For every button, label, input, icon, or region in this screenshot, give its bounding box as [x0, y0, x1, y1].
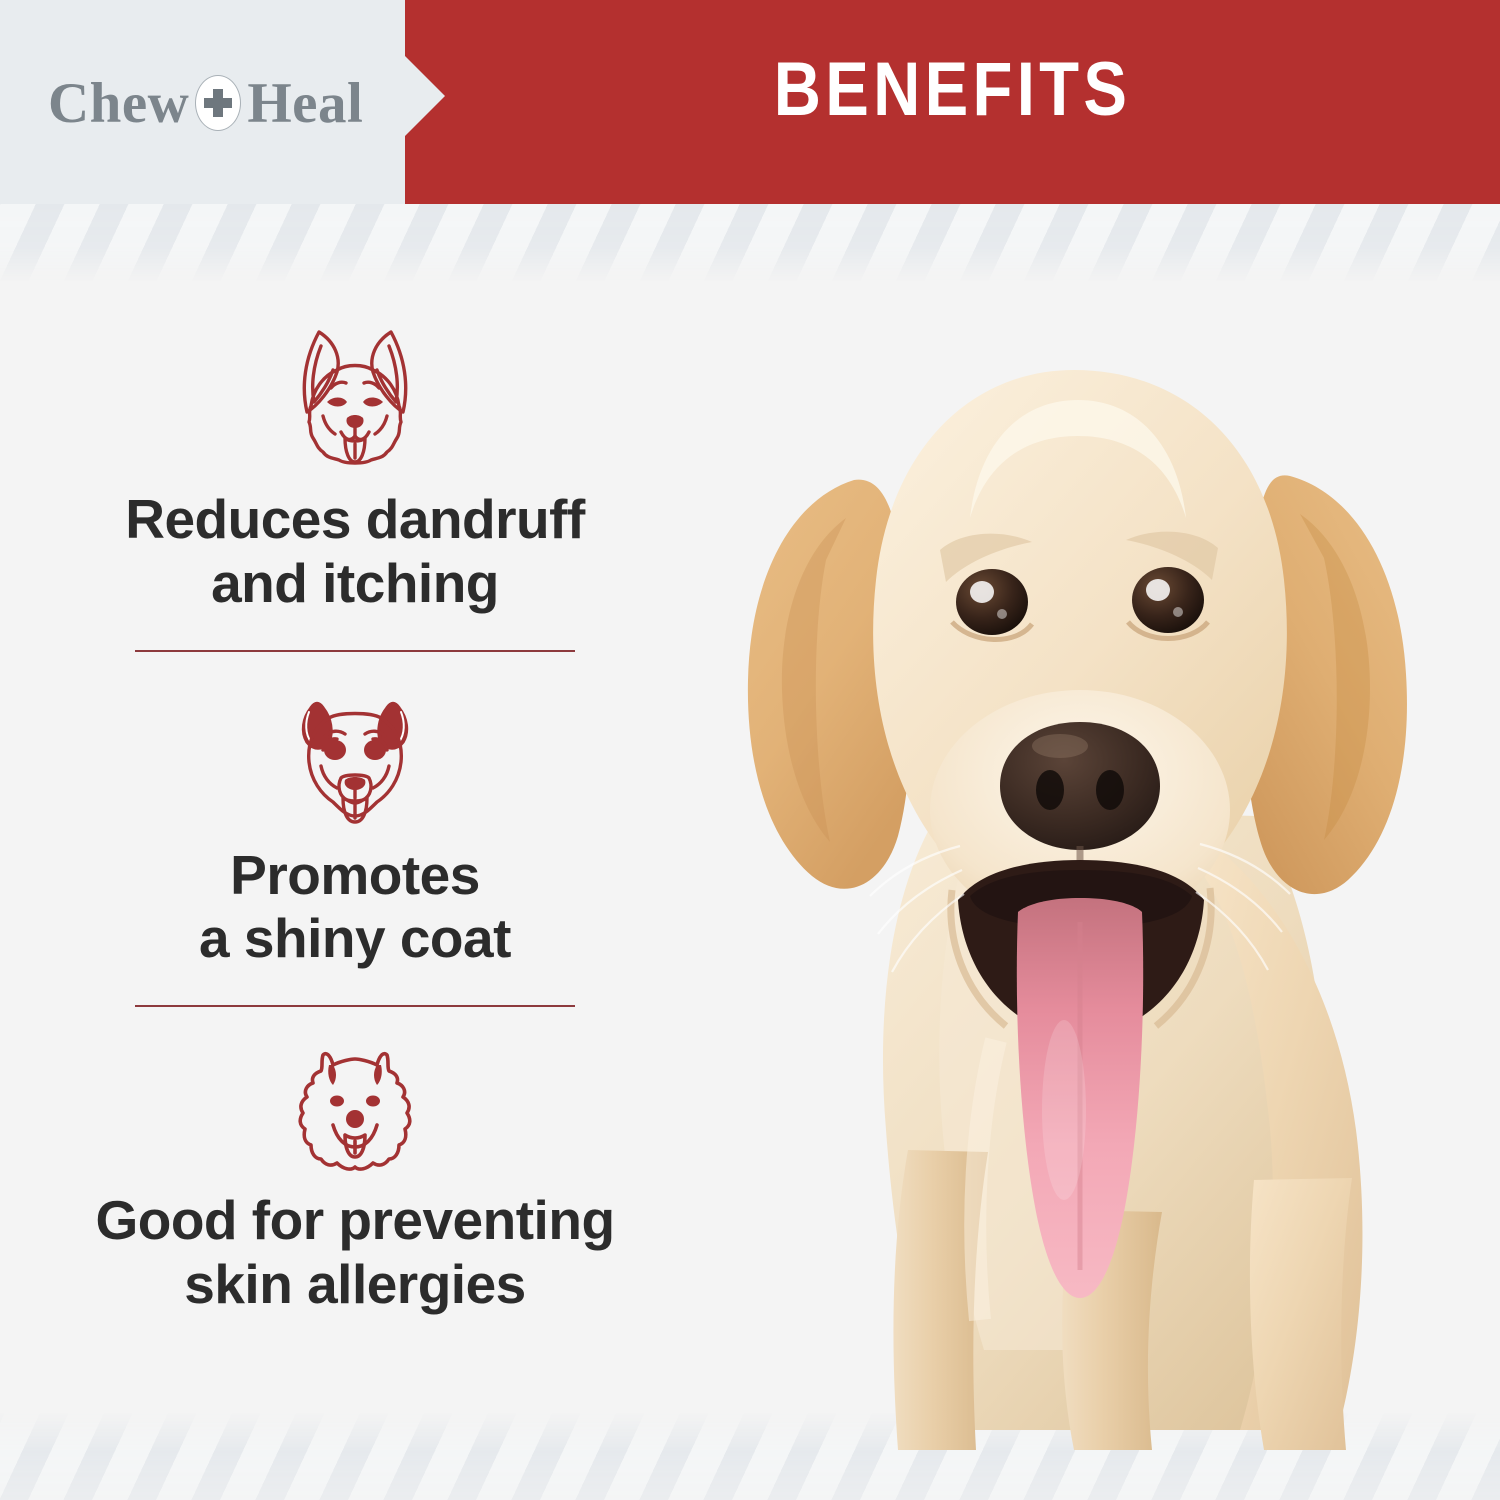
- terrier-dog-face-icon: [285, 688, 425, 828]
- benefits-list: Reduces dandruff and itching: [40, 320, 670, 1317]
- benefit-divider: [135, 1005, 575, 1007]
- puppy-photo: [640, 250, 1500, 1450]
- brand-logo: Chew Heal: [48, 62, 378, 144]
- benefit-item: Good for preventing skin allergies: [40, 1043, 670, 1317]
- benefit-label: Reduces dandruff and itching: [40, 488, 670, 616]
- benefit-item: Promotes a shiny coat: [40, 688, 670, 1008]
- page-title: BENEFITS: [482, 52, 1424, 128]
- benefit-divider: [135, 650, 575, 652]
- benefit-item: Reduces dandruff and itching: [40, 320, 670, 652]
- header-banner: BENEFITS: [405, 0, 1500, 204]
- logo-text-chew: Chew: [48, 75, 189, 132]
- medical-plus-icon: [195, 75, 241, 131]
- samoyed-dog-face-icon: [287, 1043, 423, 1173]
- benefit-label: Promotes a shiny coat: [40, 844, 670, 972]
- product-benefits-infographic: Chew Heal BENEFITS: [0, 0, 1500, 1500]
- logo-text-heal: Heal: [247, 75, 363, 132]
- corgi-dog-face-icon: [275, 320, 435, 472]
- logo-plate: Chew Heal: [0, 0, 470, 204]
- benefit-label: Good for preventing skin allergies: [40, 1189, 670, 1317]
